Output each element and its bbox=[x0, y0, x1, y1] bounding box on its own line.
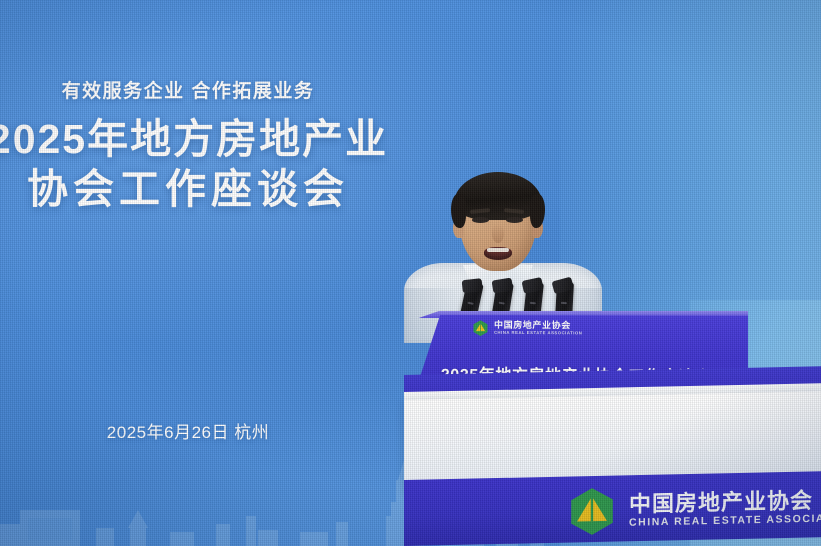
association-logo-block: 中国房地产业协会 CHINA REAL ESTATE ASSOCIATION bbox=[566, 480, 821, 538]
led-date-location: 2025年6月26日 杭州 bbox=[0, 418, 398, 443]
led-kicker-text: 有效服务企业 合作拓展业务 bbox=[0, 80, 398, 104]
association-name-cn: 中国房地产业协会 bbox=[629, 488, 821, 516]
hexagon-emblem-icon bbox=[566, 485, 618, 538]
speaker-hair bbox=[454, 172, 542, 220]
led-title-line-2: 协会工作座谈会 bbox=[0, 164, 398, 214]
stage-photo: 有效服务企业 合作拓展业务 2025年地方房地产业 协会工作座谈会 2025年6… bbox=[0, 0, 821, 546]
speaker-eye-left bbox=[472, 217, 489, 223]
speaker-nose bbox=[492, 224, 504, 243]
hexagon-emblem-icon bbox=[472, 320, 489, 337]
podium-logo-en: CHINA REAL ESTATE ASSOCIATION bbox=[494, 331, 582, 336]
speaker-mouth bbox=[484, 247, 512, 260]
podium-association-logo: 中国房地产业协会 CHINA REAL ESTATE ASSOCIATION bbox=[472, 320, 583, 338]
led-title-line-1: 2025年地方房地产业 bbox=[0, 114, 398, 164]
led-main-title: 2025年地方房地产业 协会工作座谈会 bbox=[0, 114, 398, 215]
speaker-eye-right bbox=[506, 217, 523, 223]
led-headline-block: 有效服务企业 合作拓展业务 2025年地方房地产业 协会工作座谈会 bbox=[0, 80, 398, 215]
